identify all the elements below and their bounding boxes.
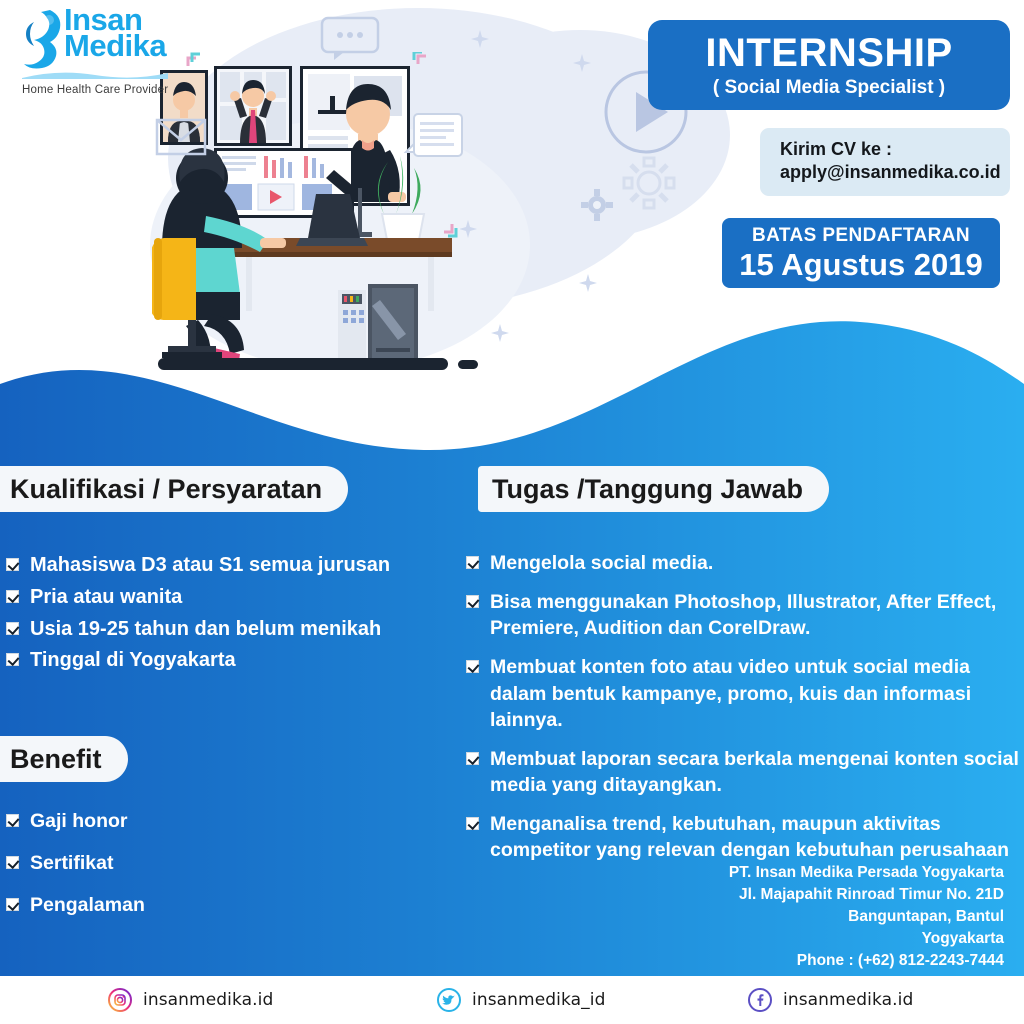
address-line-4: Yogyakarta [729,928,1004,950]
twitter-icon [437,988,461,1012]
social-footer: insanmedika.id insanmedika_id insanmedik… [0,976,1024,1024]
checkbox-icon [466,595,479,608]
deadline-badge: BATAS PENDAFTARAN 15 Agustus 2019 [722,218,1000,288]
tugas-list: Mengelola social media. Bisa menggunakan… [466,550,1022,876]
cv-email[interactable]: apply@insanmedika.co.id [780,161,996,184]
insan-medika-figure-icon [20,8,68,70]
tugas-heading-pill: Tugas /Tanggung Jawab [478,466,829,512]
list-item-label: Membuat konten foto atau video untuk soc… [490,654,1022,732]
list-item: Gaji honor [6,808,336,834]
kualifikasi-heading: Kualifikasi / Persyaratan [10,474,322,505]
checkbox-icon [6,622,19,635]
facebook-icon [748,988,772,1012]
cv-submission-box: Kirim CV ke : apply@insanmedika.co.id [760,128,1010,196]
list-item-label: Pengalaman [30,892,336,918]
list-item-label: Tinggal di Yogyakarta [30,647,446,674]
logo-wordmark: Insan Medika [64,6,166,60]
facebook-handle: insanmedika.id [783,990,913,1010]
checkbox-icon [6,856,19,869]
list-item-label: Bisa menggunakan Photoshop, Illustrator,… [490,589,1022,641]
social-twitter[interactable]: insanmedika_id [437,988,605,1012]
list-item: Mengelola social media. [466,550,1022,576]
checkbox-icon [466,752,479,765]
chat-bubble-icon [320,16,380,60]
company-address: PT. Insan Medika Persada Yogyakarta Jl. … [729,862,1004,972]
deadline-label: BATAS PENDAFTARAN [752,226,970,245]
list-item: Membuat konten foto atau video untuk soc… [466,654,1022,732]
checkbox-icon [466,660,479,673]
social-facebook[interactable]: insanmedika.id [748,988,913,1012]
social-instagram[interactable]: insanmedika.id [108,988,273,1012]
list-item-label: Sertifikat [30,850,336,876]
kualifikasi-list: Mahasiswa D3 atau S1 semua jurusan Pria … [6,552,446,679]
internship-title-badge: INTERNSHIP ( Social Media Specialist ) [648,20,1010,110]
list-item-label: Membuat laporan secara berkala mengenai … [490,746,1022,798]
list-item: Tinggal di Yogyakarta [6,647,446,674]
benefit-heading-pill: Benefit [0,736,128,782]
list-item: Usia 19-25 tahun dan belum menikah [6,616,446,643]
checkbox-icon [6,898,19,911]
logo-line-2: Medika [64,32,166,61]
list-item: Menganalisa trend, kebutuhan, maupun akt… [466,811,1022,863]
benefit-list: Gaji honor Sertifikat Pengalaman [6,808,336,934]
cv-label: Kirim CV ke : [780,138,996,161]
checkbox-icon [466,556,479,569]
address-line-2: Jl. Majapahit Rinroad Timur No. 21D [729,884,1004,906]
page-title: INTERNSHIP [705,33,952,73]
kualifikasi-heading-pill: Kualifikasi / Persyaratan [0,466,348,512]
checkbox-icon [6,590,19,603]
instagram-handle: insanmedika.id [143,990,273,1010]
list-item: Pria atau wanita [6,584,446,611]
logo-swoosh-icon [22,70,168,80]
company-logo: Insan Medika Home Health Care Provider [12,6,172,101]
envelope-icon [155,118,207,156]
checkbox-icon [6,558,19,571]
benefit-heading: Benefit [10,744,102,775]
list-item-label: Pria atau wanita [30,584,446,611]
list-item-label: Usia 19-25 tahun dan belum menikah [30,616,446,643]
list-item-label: Mahasiswa D3 atau S1 semua jurusan [30,552,446,579]
gear-icon [618,152,680,214]
instagram-icon [108,988,132,1012]
logo-tagline: Home Health Care Provider [22,84,168,96]
list-item-label: Menganalisa trend, kebutuhan, maupun akt… [490,811,1022,863]
tugas-heading: Tugas /Tanggung Jawab [492,474,803,505]
checkbox-icon [466,817,479,830]
list-item-label: Mengelola social media. [490,550,1022,576]
list-item: Mahasiswa D3 atau S1 semua jurusan [6,552,446,579]
checkbox-icon [6,653,19,666]
sparkle-icon [460,24,600,354]
list-item: Membuat laporan secara berkala mengenai … [466,746,1022,798]
list-item-label: Gaji honor [30,808,336,834]
list-item: Sertifikat [6,850,336,876]
address-line-3: Banguntapan, Bantul [729,906,1004,928]
twitter-handle: insanmedika_id [472,990,605,1010]
address-line-1: PT. Insan Medika Persada Yogyakarta [729,862,1004,884]
checkbox-icon [6,814,19,827]
internship-poster: Insan Medika Home Health Care Provider I… [0,0,1024,1024]
deadline-date: 15 Agustus 2019 [739,249,983,280]
list-item: Bisa menggunakan Photoshop, Illustrator,… [466,589,1022,641]
list-item: Pengalaman [6,892,336,918]
address-phone: Phone : (+62) 812-2243-7444 [729,950,1004,972]
page-subtitle: ( Social Media Specialist ) [713,78,945,97]
